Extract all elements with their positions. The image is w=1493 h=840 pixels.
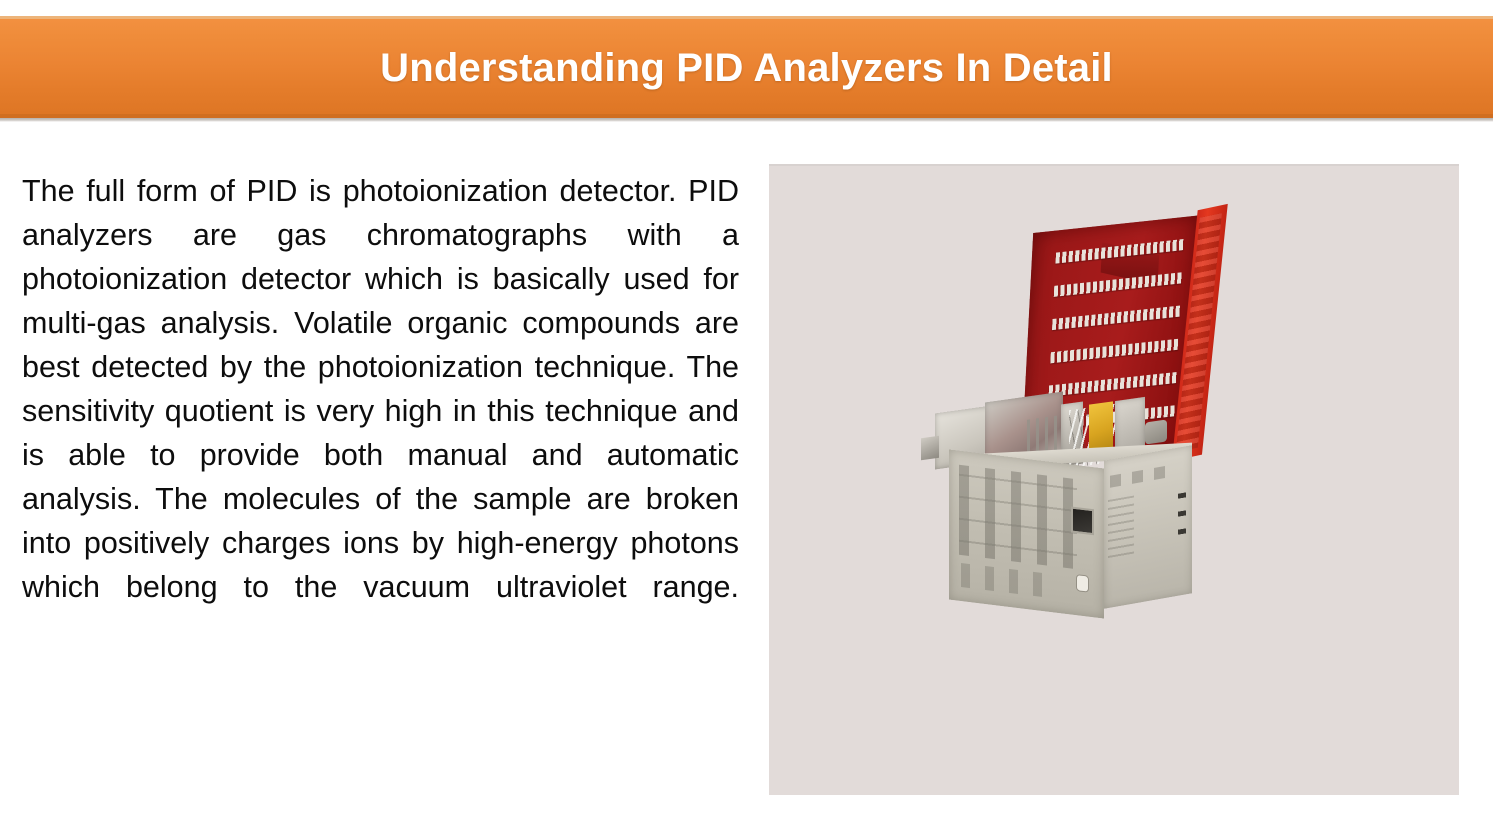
pid-analyzer-device xyxy=(919,221,1249,621)
chassis-front-panel xyxy=(949,449,1104,618)
device-lid-vent-row xyxy=(1052,306,1180,331)
chassis-side-panel xyxy=(1104,445,1192,609)
pid-analyzer-photo xyxy=(769,166,1459,795)
side-panel-indicators xyxy=(1178,492,1186,545)
slide: Understanding PID Analyzers In Detail Th… xyxy=(0,0,1493,840)
device-lid-vent-row xyxy=(1055,239,1183,264)
device-lid-vent-row xyxy=(1050,339,1178,364)
page-title: Understanding PID Analyzers In Detail xyxy=(380,46,1113,91)
body-paragraph: The full form of PID is photoionization … xyxy=(22,169,739,653)
image-frame xyxy=(769,164,1459,795)
display-window xyxy=(1071,506,1094,535)
device-left-port xyxy=(921,436,939,461)
internal-knob xyxy=(1145,419,1167,444)
front-panel-labels xyxy=(959,465,1077,569)
internal-yellow-board xyxy=(1089,401,1113,450)
side-panel-labels xyxy=(1110,465,1170,488)
title-underline-rule xyxy=(0,118,1493,122)
title-banner: Understanding PID Analyzers In Detail xyxy=(0,16,1493,118)
front-panel-labels-lower xyxy=(961,563,1057,599)
side-panel-vents xyxy=(1108,495,1134,560)
device-lid-vent-row xyxy=(1054,272,1182,297)
device-lid-vent-row xyxy=(1049,372,1177,397)
power-button xyxy=(1077,575,1088,591)
